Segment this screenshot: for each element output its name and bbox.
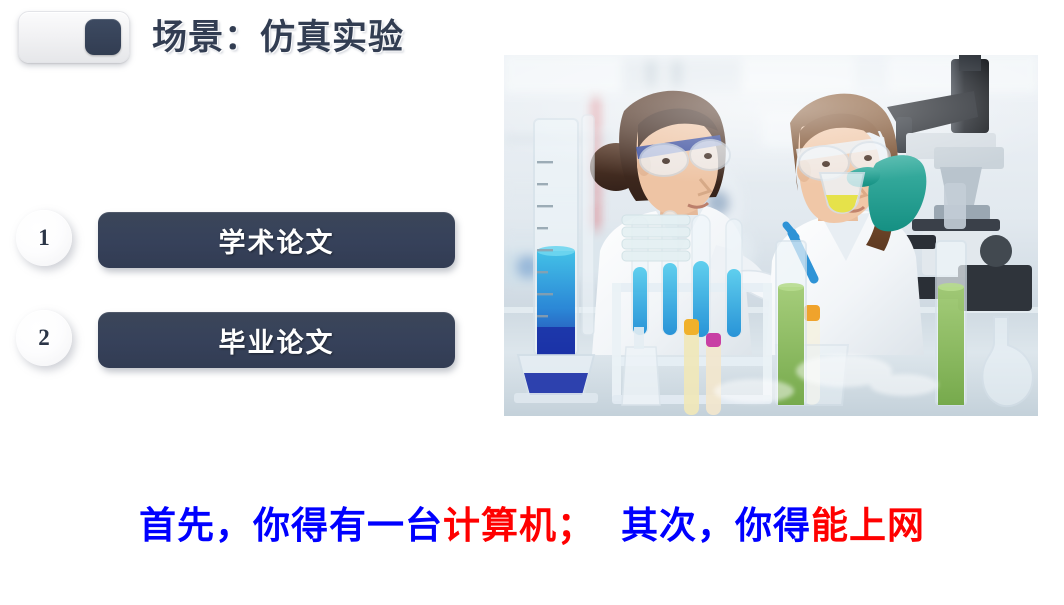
caption-segment-2: 计算机； <box>443 505 595 546</box>
list-item-number: 1 <box>38 225 50 251</box>
list-item-label: 毕业论文 <box>219 321 335 360</box>
list-item-number-badge: 2 <box>16 310 72 366</box>
header-row: 场景：仿真实验 <box>0 0 470 80</box>
caption-segment-4: 能上网 <box>811 505 925 546</box>
list-item-number-badge: 1 <box>16 210 72 266</box>
list-item-button-academic-paper[interactable]: 学术论文 <box>98 212 455 268</box>
list-item-number: 2 <box>38 325 50 351</box>
caption-text: 首先，你得有一台计算机；其次，你得能上网 <box>0 498 1064 554</box>
toggle-knob-icon[interactable] <box>85 19 121 55</box>
toggle-switch-icon[interactable] <box>18 11 130 63</box>
lab-experiment-photo <box>504 55 1038 416</box>
caption-segment-1: 首先，你得有一台 <box>139 505 443 546</box>
caption-segment-3: 其次，你得 <box>621 505 811 546</box>
page-title: 场景：仿真实验 <box>152 14 404 62</box>
list-item-button-graduation-thesis[interactable]: 毕业论文 <box>98 312 455 368</box>
lab-experiment-illustration <box>504 55 1038 416</box>
list-item-label: 学术论文 <box>219 221 335 260</box>
